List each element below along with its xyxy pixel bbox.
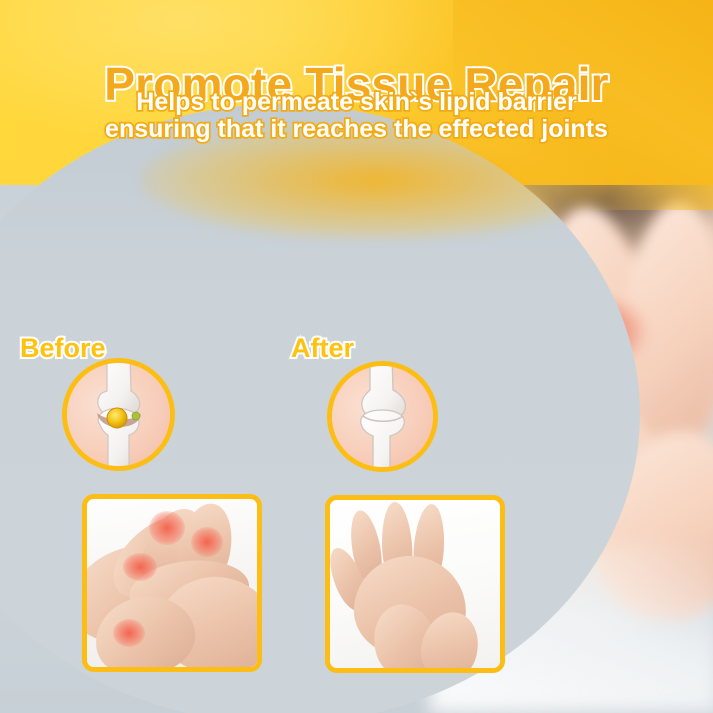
subtitle-line-2: ensuring that it reaches the effected jo… (0, 115, 713, 144)
photo-healthy-hand (330, 500, 500, 668)
joint-inset-before (62, 358, 175, 471)
label-before: Before (20, 333, 106, 364)
subtitle-line-1: Helps to permeate skin`s lipid barrier (0, 88, 713, 117)
photo-arthritic-hands (87, 499, 257, 667)
photo-panel-after (325, 495, 505, 673)
joint-inset-after (327, 361, 438, 472)
promotional-poster: Promote Tissue Repair Helps to permeate … (0, 0, 713, 713)
label-after: After (291, 333, 354, 364)
photo-panel-before (82, 494, 262, 672)
